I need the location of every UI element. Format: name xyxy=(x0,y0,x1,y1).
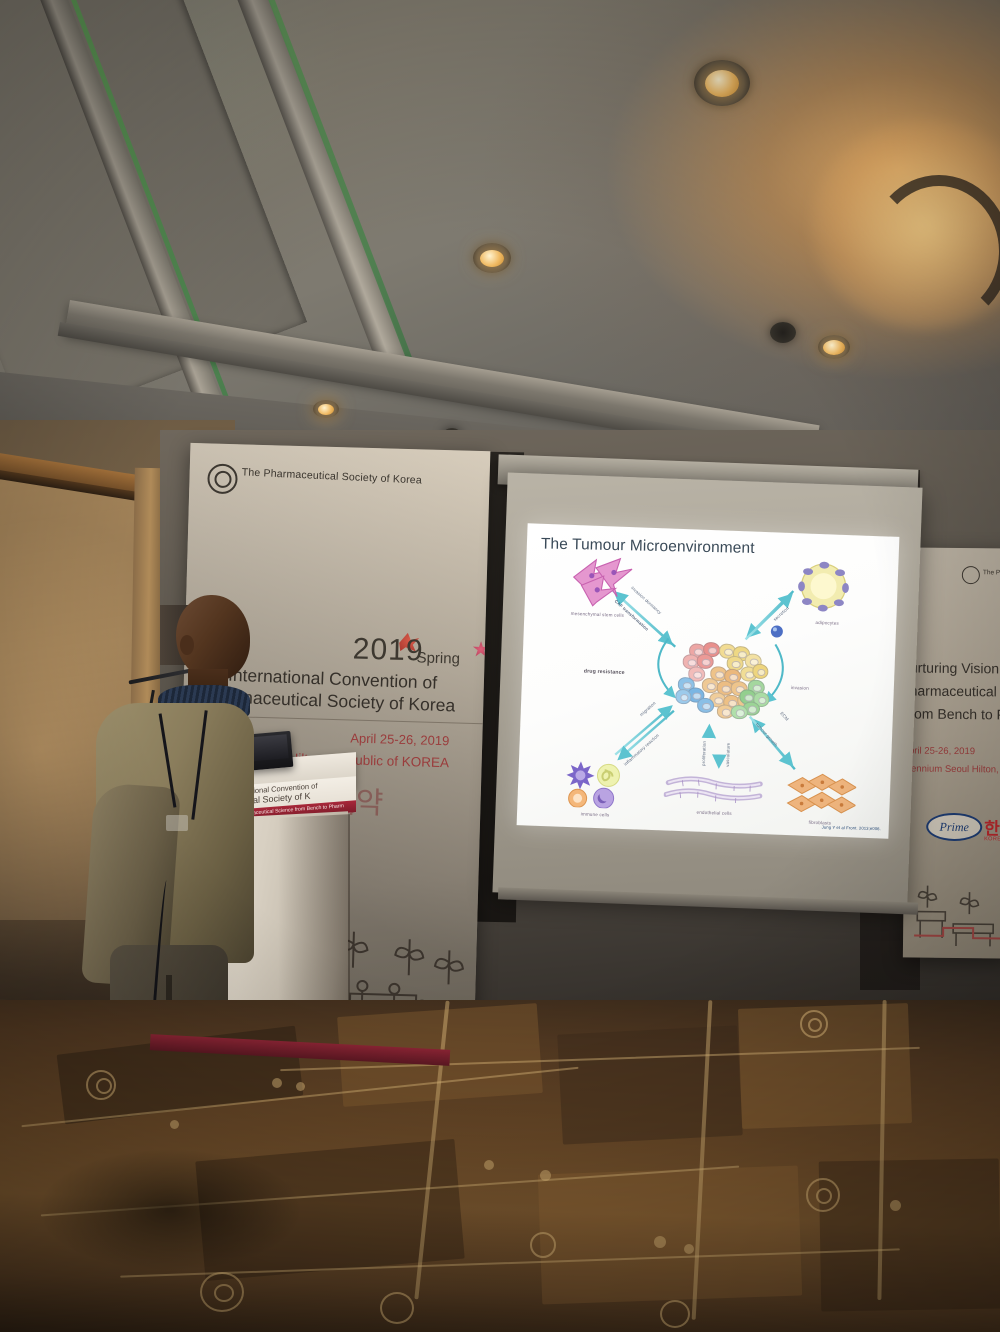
carpet-swirl xyxy=(808,1018,822,1032)
banner-date: April 25-26, 2019 xyxy=(350,731,449,749)
carpet-panel xyxy=(819,1158,1000,1311)
arrow-label-vasculature: vasculature xyxy=(725,743,731,767)
floor-shadow xyxy=(40,1150,300,1270)
ceiling-pipe xyxy=(868,175,1000,327)
sponsor-logo-text: Prime xyxy=(939,819,968,834)
recessed-downlight-icon xyxy=(818,335,850,359)
projected-slide: The Tumour Microenvironment Jung Y et al… xyxy=(517,523,900,838)
secreted-factor-icon xyxy=(770,624,785,639)
carpet-swirl xyxy=(530,1232,556,1258)
banner-society-name: The Pharm xyxy=(983,569,1000,576)
tumour-cell-mass xyxy=(673,641,770,718)
banner-tagline-line2: harmaceutical Sci xyxy=(910,682,1000,699)
carpet-panel xyxy=(538,1166,802,1305)
carpet-swirl xyxy=(96,1078,112,1094)
banner-lab-illustration xyxy=(913,878,1000,949)
recessed-downlight-icon xyxy=(473,243,511,273)
carpet-dot xyxy=(272,1078,282,1088)
banner-year: 2019 xyxy=(352,633,424,669)
conference-room-photo: The Pharmaceutical Society of Korea 2019… xyxy=(0,0,1000,1332)
sponsor-logo-prime: Prime xyxy=(926,813,982,842)
carpet-swirl xyxy=(660,1300,690,1328)
carpet-dot xyxy=(890,1200,901,1211)
carpet-dot xyxy=(540,1170,551,1181)
banner-tagline-line3: rom Bench to Pha xyxy=(909,705,1000,722)
recessed-downlight-icon xyxy=(313,400,339,418)
carpet-dot xyxy=(296,1082,305,1091)
adipocytes-icon xyxy=(795,559,853,613)
mesenchymal-stem-cells-icon xyxy=(569,555,637,609)
carpet-swirl xyxy=(816,1188,832,1204)
arrow-label-proliferation: proliferation xyxy=(701,741,707,766)
immune-cells-icon xyxy=(563,757,627,809)
ceiling-sprinkler-icon xyxy=(770,322,796,343)
carpet-swirl xyxy=(380,1292,414,1324)
carpet-dot xyxy=(684,1244,694,1254)
carpet-panel xyxy=(557,1025,743,1144)
banner-season: Spring xyxy=(416,649,460,667)
carpet-dot xyxy=(654,1236,666,1248)
banner-tagline-line1: urturing Vision for xyxy=(910,659,1000,676)
ceiling xyxy=(0,0,1000,470)
carpet-dot xyxy=(484,1160,494,1170)
banner-venue: llennium Seoul Hilton, Rep xyxy=(907,763,1000,775)
sponsor-subtitle: KOREA PRIME P xyxy=(984,836,1000,843)
society-logo-icon xyxy=(962,566,980,584)
endothelial-cells-icon xyxy=(664,770,765,804)
carpet-swirl xyxy=(214,1284,234,1302)
carpet-dot xyxy=(170,1120,179,1129)
name-badge xyxy=(166,815,188,831)
banner-date: pril 25-26, 2019 xyxy=(909,745,975,757)
fibroblasts-icon xyxy=(785,771,857,818)
recessed-downlight-icon xyxy=(694,60,750,106)
speaker-ear xyxy=(180,635,194,655)
